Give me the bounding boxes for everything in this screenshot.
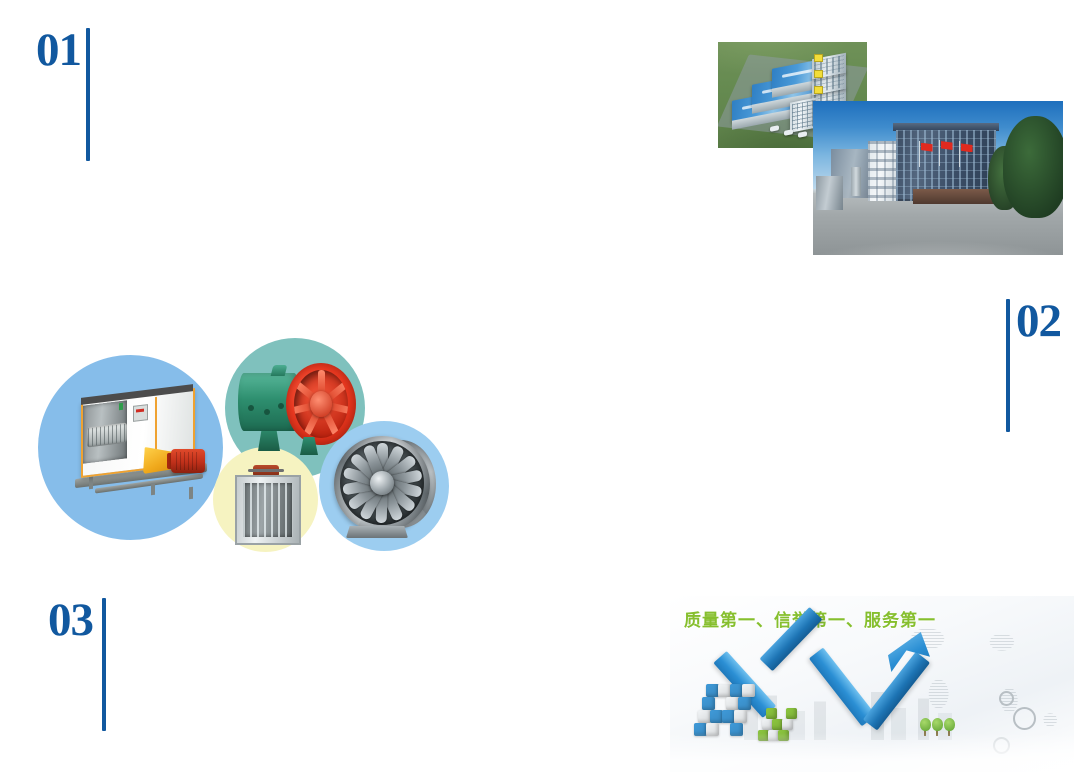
section-marker-02: 02 [1006, 298, 1061, 432]
product-box-fan [59, 387, 211, 505]
flag-pole [939, 140, 940, 166]
box-fan-leg [151, 483, 155, 495]
roof-cap [893, 123, 999, 131]
flag-pole [919, 141, 920, 167]
section-rule-01 [86, 28, 90, 161]
cube [766, 708, 777, 719]
cube [702, 697, 715, 710]
factory-marker-yellow [814, 70, 823, 78]
turbine-hub [370, 471, 394, 495]
axial-fan-hub [310, 391, 332, 417]
section-number-03: 03 [48, 597, 93, 643]
product-fire-damper [235, 465, 297, 543]
box-fan-leg [89, 477, 93, 489]
axial-fan-junction-box [271, 365, 288, 376]
factory-marker-yellow [814, 86, 823, 94]
cube [786, 708, 797, 719]
box-fan-control-panel [133, 404, 148, 422]
box-fan-motor [171, 449, 205, 473]
cube [738, 697, 751, 710]
box-fan-label [119, 403, 123, 410]
section-rule-02 [1006, 299, 1010, 432]
factory-marker-yellow [814, 54, 823, 62]
box-fan-leg [189, 487, 193, 499]
chimney [851, 167, 861, 196]
section-marker-01: 01 [36, 27, 90, 161]
section-number-02: 02 [1016, 298, 1061, 344]
cube [734, 710, 747, 723]
section-rule-03 [102, 598, 106, 731]
damper-frame [235, 475, 301, 545]
section-number-01: 01 [36, 27, 81, 73]
cube [782, 719, 793, 730]
section-marker-03: 03 [48, 597, 106, 731]
poster-canvas: 01 [0, 0, 1074, 772]
office-building-photo [813, 101, 1063, 255]
gatehouse [816, 176, 844, 210]
growth-banner: 质量第一、信誉第一、服务第一 [670, 596, 1074, 772]
product-turbine-fan [326, 430, 446, 542]
turbine-base [346, 526, 408, 538]
cube [742, 684, 755, 697]
flag-pole [959, 141, 960, 167]
tree [1003, 116, 1063, 218]
damper-blades [243, 483, 293, 537]
product-collage [35, 325, 425, 550]
banner-reflection [670, 733, 1074, 772]
